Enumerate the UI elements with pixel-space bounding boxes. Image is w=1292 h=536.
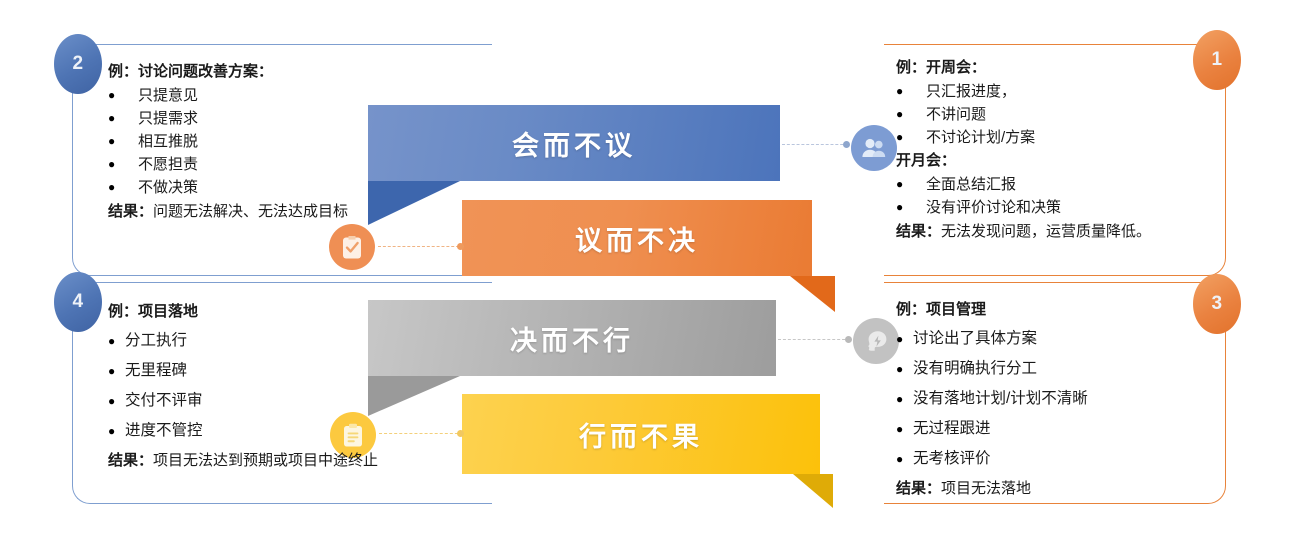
panel-top-left-content: 例：讨论问题改善方案： ●只提意见 ●只提需求 ●相互推脱 ●不愿担责 ●不做决…: [108, 62, 438, 222]
sub-bullet-list: ●全面总结汇报 ●没有评价讨论和决策: [896, 173, 1226, 219]
panel-heading: 例：讨论问题改善方案：: [108, 62, 438, 82]
list-item-label: 无过程跟进: [913, 414, 991, 444]
bullet-dot: ●: [896, 354, 913, 384]
list-item: ●相互推脱: [108, 130, 438, 153]
connector-dot: [843, 141, 850, 148]
list-item: ●全面总结汇报: [896, 173, 1226, 196]
connector-banner2-to-panel2: [378, 246, 464, 247]
panel-heading: 例：项目管理: [896, 300, 1226, 320]
result-line: 结果：问题无法解决、无法达成目标: [108, 201, 438, 222]
bullet-dot: ●: [896, 414, 913, 444]
banner-yi-er-bu-jue[interactable]: 议而不决: [462, 200, 812, 276]
list-item: ●分工执行: [108, 326, 448, 356]
list-item: ●无考核评价: [896, 444, 1226, 474]
list-item: ●无过程跟进: [896, 414, 1226, 444]
list-item: ●交付不评审: [108, 386, 448, 416]
bullet-dot: ●: [896, 444, 913, 474]
result-label: 结果：: [108, 203, 153, 220]
list-item: ●没有明确执行分工: [896, 354, 1226, 384]
list-item: ●不做决策: [108, 176, 438, 199]
list-item: ●只提意见: [108, 84, 438, 107]
list-item-label: 不做决策: [138, 176, 198, 199]
connector-dot: [845, 336, 852, 343]
panel-heading: 例：项目落地: [108, 302, 448, 322]
list-item: ●只汇报进度，: [896, 80, 1226, 103]
list-item: ●不讲问题: [896, 103, 1226, 126]
connector-banner1-to-panel1: [782, 144, 848, 145]
list-item-label: 只提意见: [138, 84, 198, 107]
clipboard-check-icon: [329, 224, 375, 270]
bullet-dot: ●: [896, 103, 926, 126]
connector-dot: [457, 430, 464, 437]
list-item: ●不愿担责: [108, 153, 438, 176]
list-item-label: 全面总结汇报: [926, 173, 1016, 196]
list-item-label: 讨论出了具体方案: [913, 324, 1037, 354]
list-item: ●讨论出了具体方案: [896, 324, 1226, 354]
list-item-label: 只提需求: [138, 107, 198, 130]
list-item-label: 相互推脱: [138, 130, 198, 153]
badge-label: 4: [72, 291, 83, 313]
bullet-dot: ●: [108, 356, 125, 386]
banner-xing-er-bu-guo[interactable]: 行而不果: [462, 394, 820, 474]
banner-label: 会而不议: [512, 124, 636, 163]
result-label: 结果：: [896, 223, 941, 240]
result-label: 结果：: [896, 480, 941, 497]
bullet-dot: ●: [896, 324, 913, 354]
badge-number-4[interactable]: 4: [54, 272, 102, 332]
banner-yellow-fold: [793, 474, 833, 508]
result-text: 问题无法解决、无法达成目标: [153, 203, 348, 220]
list-item-label: 分工执行: [125, 326, 187, 356]
result-text: 项目无法达到预期或项目中途终止: [153, 452, 378, 469]
list-item-label: 不讨论计划/方案: [926, 126, 1035, 149]
list-item-label: 无里程碑: [125, 356, 187, 386]
bullet-list: ●分工执行 ●无里程碑 ●交付不评审 ●进度不管控: [108, 326, 448, 446]
badge-number-2[interactable]: 2: [54, 34, 102, 94]
bullet-dot: ●: [896, 126, 926, 149]
list-item-label: 没有明确执行分工: [913, 354, 1037, 384]
list-item-label: 没有评价讨论和决策: [926, 196, 1061, 219]
bullet-dot: ●: [896, 80, 926, 103]
bullet-dot: ●: [108, 176, 138, 199]
bullet-dot: ●: [896, 384, 913, 414]
result-line: 结果：无法发现问题，运营质量降低。: [896, 221, 1226, 242]
list-item: ●不讨论计划/方案: [896, 126, 1226, 149]
list-item: ●只提需求: [108, 107, 438, 130]
bullet-dot: ●: [896, 173, 926, 196]
result-label: 结果：: [108, 452, 153, 469]
list-item: ●没有落地计划/计划不清晰: [896, 384, 1226, 414]
panel-heading: 例：开周会：: [896, 58, 1226, 78]
connector-dot: [457, 243, 464, 250]
panel-subheading: 开月会：: [896, 151, 1226, 171]
bullet-dot: ●: [108, 84, 138, 107]
list-item-label: 只汇报进度，: [926, 80, 1016, 103]
result-line: 结果：项目无法达到预期或项目中途终止: [108, 450, 448, 471]
list-item-label: 进度不管控: [125, 416, 203, 446]
list-item: ●无里程碑: [108, 356, 448, 386]
bullet-dot: ●: [108, 130, 138, 153]
list-item-label: 无考核评价: [913, 444, 991, 474]
list-item-label: 不讲问题: [926, 103, 986, 126]
bullet-list: ●讨论出了具体方案 ●没有明确执行分工 ●没有落地计划/计划不清晰 ●无过程跟进…: [896, 324, 1226, 474]
list-item-label: 没有落地计划/计划不清晰: [913, 384, 1088, 414]
bullet-dot: ●: [108, 416, 125, 446]
banner-orange-fold: [790, 276, 835, 312]
people-icon: [851, 125, 897, 171]
bullet-dot: ●: [896, 196, 926, 219]
panel-bottom-right-content: 例：项目管理 ●讨论出了具体方案 ●没有明确执行分工 ●没有落地计划/计划不清晰…: [896, 300, 1226, 499]
diagram-canvas: 会而不议 议而不决 决而不行 行而不果: [0, 0, 1292, 536]
bullet-dot: ●: [108, 386, 125, 416]
banner-label: 行而不果: [579, 415, 703, 454]
bullet-dot: ●: [108, 153, 138, 176]
panel-top-right-content: 例：开周会： ●只汇报进度， ●不讲问题 ●不讨论计划/方案 开月会： ●全面总…: [896, 58, 1226, 242]
result-text: 项目无法落地: [941, 480, 1031, 497]
list-item: ●没有评价讨论和决策: [896, 196, 1226, 219]
banner-label: 议而不决: [575, 219, 699, 258]
banner-label: 决而不行: [510, 319, 634, 358]
badge-label: 2: [72, 53, 83, 75]
head-idea-icon: [853, 318, 899, 364]
list-item-label: 交付不评审: [125, 386, 203, 416]
list-item-label: 不愿担责: [138, 153, 198, 176]
bullet-list: ●只提意见 ●只提需求 ●相互推脱 ●不愿担责 ●不做决策: [108, 84, 438, 199]
result-line: 结果：项目无法落地: [896, 478, 1226, 499]
result-text: 无法发现问题，运营质量降低。: [941, 223, 1151, 240]
list-item: ●进度不管控: [108, 416, 448, 446]
bullet-dot: ●: [108, 326, 125, 356]
bullet-list: ●只汇报进度， ●不讲问题 ●不讨论计划/方案: [896, 80, 1226, 149]
panel-bottom-left-content: 例：项目落地 ●分工执行 ●无里程碑 ●交付不评审 ●进度不管控 结果：项目无法…: [108, 302, 448, 471]
connector-banner3-to-panel3: [778, 339, 850, 340]
bullet-dot: ●: [108, 107, 138, 130]
